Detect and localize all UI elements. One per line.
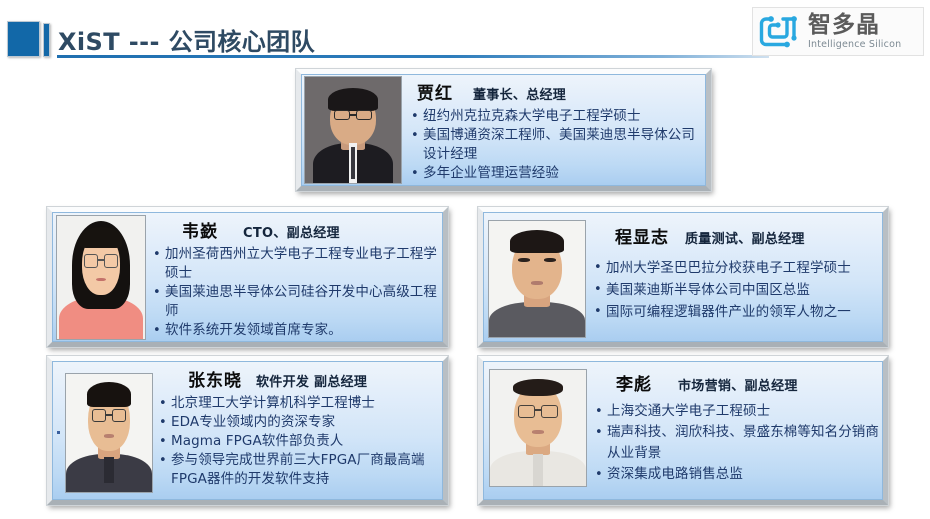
logo-chinese-name: 智多晶 [808, 14, 901, 37]
name-row: 韦嶔 CTO、副总经理 [152, 217, 438, 242]
person-name: 李彪 [616, 370, 652, 395]
header-accent-block-large [7, 21, 40, 57]
slide-canvas: XiST --- 公司核心团队 智多晶 Intelligence Silicon [0, 0, 930, 519]
profile-card-jiahong[interactable]: 贾红 董事长、总经理 纽约州克拉克森大学电子工程学硕士 美国博通资深工程师、美国… [296, 69, 711, 191]
bullet-list: 北京理工大学计算机科学工程博士 EDA专业领域内的资深专家 Magma FPGA… [158, 394, 438, 489]
person-role: 质量测试、副总经理 [685, 228, 805, 247]
name-row: 李彪 市场营销、副总经理 [594, 370, 879, 395]
list-item: Magma FPGA软件部负责人 [158, 432, 438, 451]
page-title: XiST --- 公司核心团队 [58, 22, 315, 57]
bullet-list: 加州大学圣巴巴拉分校获电子工程学硕士 美国莱迪斯半导体公司中国区总监 国际可编程… [593, 257, 879, 323]
stray-dot-marker [57, 431, 60, 434]
person-role: CTO、副总经理 [243, 222, 340, 241]
list-item: EDA专业领域内的资深专家 [158, 413, 438, 432]
title-underline [57, 55, 769, 58]
list-item: 多年企业管理运营经验 [410, 164, 698, 183]
name-row: 贾红 董事长、总经理 [410, 79, 698, 104]
bullet-list: 加州圣荷西州立大学电子工程专业电子工程学硕士 美国莱迪思半导体公司硅谷开发中心高… [152, 245, 438, 340]
person-role: 软件开发 副总经理 [256, 371, 367, 390]
profile-card-chengxianzhi[interactable]: 程显志 质量测试、副总经理 加州大学圣巴巴拉分校获电子工程学硕士 美国莱迪斯半导… [478, 207, 888, 347]
portrait-libiao [489, 369, 587, 487]
card-body-jiahong: 贾红 董事长、总经理 纽约州克拉克森大学电子工程学硕士 美国博通资深工程师、美国… [402, 74, 706, 183]
list-item: 上海交通大学电子工程硕士 [594, 401, 879, 422]
header-accent-block-small [43, 23, 50, 57]
list-item: 美国莱迪思半导体公司硅谷开发中心高级工程师 [152, 283, 438, 321]
person-role: 市场营销、副总经理 [678, 375, 798, 394]
list-item: 北京理工大学计算机科学工程博士 [158, 394, 438, 413]
list-item: 国际可编程逻辑器件产业的领军人物之一 [593, 301, 879, 323]
bullet-list: 上海交通大学电子工程硕士 瑞声科技、润欣科技、景盛东棉等知名分销商从业背景 资深… [594, 401, 879, 485]
portrait-weiqin [56, 215, 146, 340]
company-logo: 智多晶 Intelligence Silicon [752, 7, 924, 56]
list-item: 加州大学圣巴巴拉分校获电子工程学硕士 [593, 257, 879, 279]
name-row: 程显志 质量测试、副总经理 [593, 223, 879, 248]
profile-card-weiqin[interactable]: 韦嶔 CTO、副总经理 加州圣荷西州立大学电子工程专业电子工程学硕士 美国莱迪思… [47, 207, 448, 347]
list-item: 纽约州克拉克森大学电子工程学硕士 [410, 107, 698, 126]
name-row: 张东晓 软件开发 副总经理 [158, 366, 438, 391]
portrait-jiahong [304, 76, 402, 184]
ist-circuit-logo-icon [759, 12, 803, 52]
card-body-libiao: 李彪 市场营销、副总经理 上海交通大学电子工程硕士 瑞声科技、润欣科技、景盛东棉… [587, 361, 883, 485]
list-item: 资深集成电路销售总监 [594, 464, 879, 485]
person-name: 贾红 [417, 79, 453, 104]
person-name: 程显志 [615, 223, 669, 248]
list-item: 美国博通资深工程师、美国莱迪思半导体公司设计经理 [410, 126, 698, 164]
profile-card-zhangdongxiao[interactable]: 张东晓 软件开发 副总经理 北京理工大学计算机科学工程博士 EDA专业领域内的资… [47, 356, 448, 505]
person-name: 韦嶔 [182, 217, 218, 242]
portrait-chengxianzhi [488, 220, 586, 338]
portrait-zhangdongxiao [65, 373, 153, 493]
person-name: 张东晓 [188, 366, 242, 391]
profile-card-libiao[interactable]: 李彪 市场营销、副总经理 上海交通大学电子工程硕士 瑞声科技、润欣科技、景盛东棉… [478, 356, 888, 505]
list-item: 美国莱迪斯半导体公司中国区总监 [593, 279, 879, 301]
bullet-list: 纽约州克拉克森大学电子工程学硕士 美国博通资深工程师、美国莱迪思半导体公司设计经… [410, 107, 698, 183]
list-item: 加州圣荷西州立大学电子工程专业电子工程学硕士 [152, 245, 438, 283]
card-body-zhangdongxiao: 张东晓 软件开发 副总经理 北京理工大学计算机科学工程博士 EDA专业领域内的资… [153, 361, 443, 489]
list-item: 瑞声科技、润欣科技、景盛东棉等知名分销商从业背景 [594, 422, 879, 464]
card-body-weiqin: 韦嶔 CTO、副总经理 加州圣荷西州立大学电子工程专业电子工程学硕士 美国莱迪思… [146, 212, 443, 340]
logo-text: 智多晶 Intelligence Silicon [808, 14, 901, 50]
card-body-chengxianzhi: 程显志 质量测试、副总经理 加州大学圣巴巴拉分校获电子工程学硕士 美国莱迪斯半导… [586, 212, 883, 323]
list-item: 参与领导完成世界前三大FPGA厂商最高端FPGA器件的开发软件支持 [158, 451, 438, 489]
logo-english-name: Intelligence Silicon [808, 40, 901, 50]
person-role: 董事长、总经理 [473, 84, 566, 103]
list-item: 软件系统开发领域首席专家。 [152, 321, 438, 340]
